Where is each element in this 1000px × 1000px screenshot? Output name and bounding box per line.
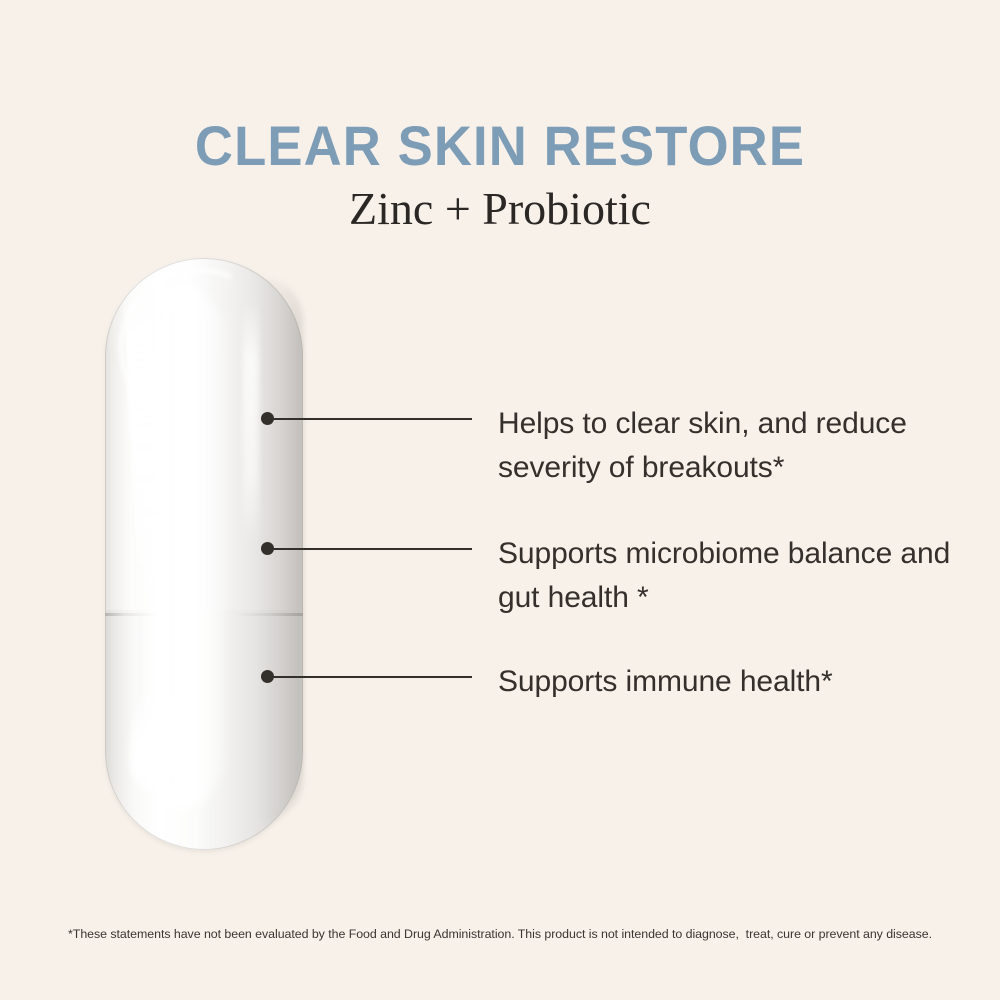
- leader-stem-1: [272, 418, 472, 420]
- benefit-text-3: Supports immune health*: [498, 660, 968, 704]
- leader-stem-3: [272, 676, 472, 678]
- benefit-callouts: Helps to clear skin, and reduce severity…: [0, 0, 1000, 1000]
- benefit-text-2: Supports microbiome balance and gut heal…: [498, 532, 968, 621]
- leader-stem-2: [272, 548, 472, 550]
- fda-disclaimer: *These statements have not been evaluate…: [0, 926, 1000, 942]
- benefit-text-1: Helps to clear skin, and reduce severity…: [498, 402, 968, 491]
- product-infographic: CLEAR SKIN RESTORE Zinc + Probiotic Help…: [0, 0, 1000, 1000]
